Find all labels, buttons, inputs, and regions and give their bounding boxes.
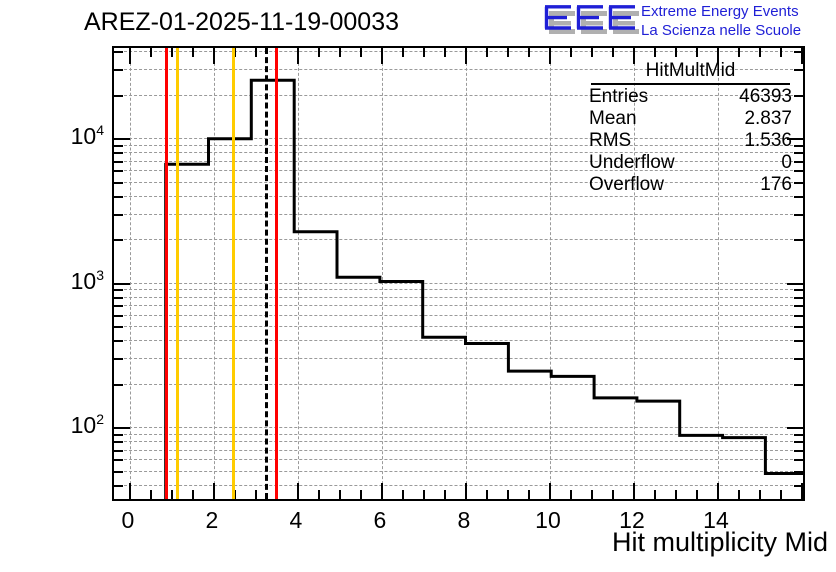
stats-row-value: 1.536 [744, 130, 792, 152]
stats-row: Entries46393 [583, 86, 798, 108]
stats-row: RMS1.536 [583, 130, 798, 152]
y-axis-tick-label: 102 [71, 412, 104, 440]
red-line-low [165, 48, 168, 499]
stats-box: HitMultMid Entries46393Mean2.837RMS1.536… [583, 60, 798, 196]
stats-row-value: 46393 [739, 86, 792, 108]
orange-line-low [176, 48, 179, 499]
x-axis-tick-label: 4 [290, 507, 303, 534]
root-canvas: AREZ-01-2025-11-19-00033 Extreme Energy … [0, 0, 836, 572]
x-axis-tick-label: 6 [374, 507, 387, 534]
x-axis-tick-label: 10 [535, 507, 561, 534]
stats-row: Underflow0 [583, 152, 798, 174]
stats-title: HitMultMid [591, 60, 790, 85]
x-axis-tick-label: 2 [206, 507, 219, 534]
eee-logo-line2: La Scienza nelle Scuole [641, 21, 801, 40]
stats-rows: Entries46393Mean2.837RMS1.536Underflow0O… [583, 86, 798, 196]
stats-row: Overflow176 [583, 174, 798, 196]
stats-row-value: 0 [781, 152, 792, 174]
stats-row-label: Entries [589, 86, 648, 108]
orange-line-high [232, 48, 235, 499]
stats-row-label: RMS [589, 130, 631, 152]
eee-logo-text: Extreme Energy Events La Scienza nelle S… [641, 2, 801, 40]
page-title: AREZ-01-2025-11-19-00033 [84, 8, 399, 37]
stats-row-label: Mean [589, 108, 637, 130]
x-axis-tick-label: 8 [458, 507, 471, 534]
eee-logo-mark [543, 3, 639, 39]
y-axis-tick-label: 104 [71, 122, 104, 150]
stats-row-label: Overflow [589, 174, 664, 196]
stats-row-value: 176 [760, 174, 792, 196]
x-axis-title: Hit multiplicity Mid [612, 527, 828, 558]
x-axis-tick-label: 0 [122, 507, 135, 534]
eee-logo-line1: Extreme Energy Events [641, 2, 801, 21]
stats-row-label: Underflow [589, 152, 675, 174]
stats-row-value: 2.837 [744, 108, 792, 130]
red-line-high [275, 48, 278, 499]
eee-logo: Extreme Energy Events La Scienza nelle S… [543, 2, 833, 42]
stats-row: Mean2.837 [583, 108, 798, 130]
y-axis-tick-label: 103 [71, 267, 104, 295]
mean-line [265, 48, 268, 499]
